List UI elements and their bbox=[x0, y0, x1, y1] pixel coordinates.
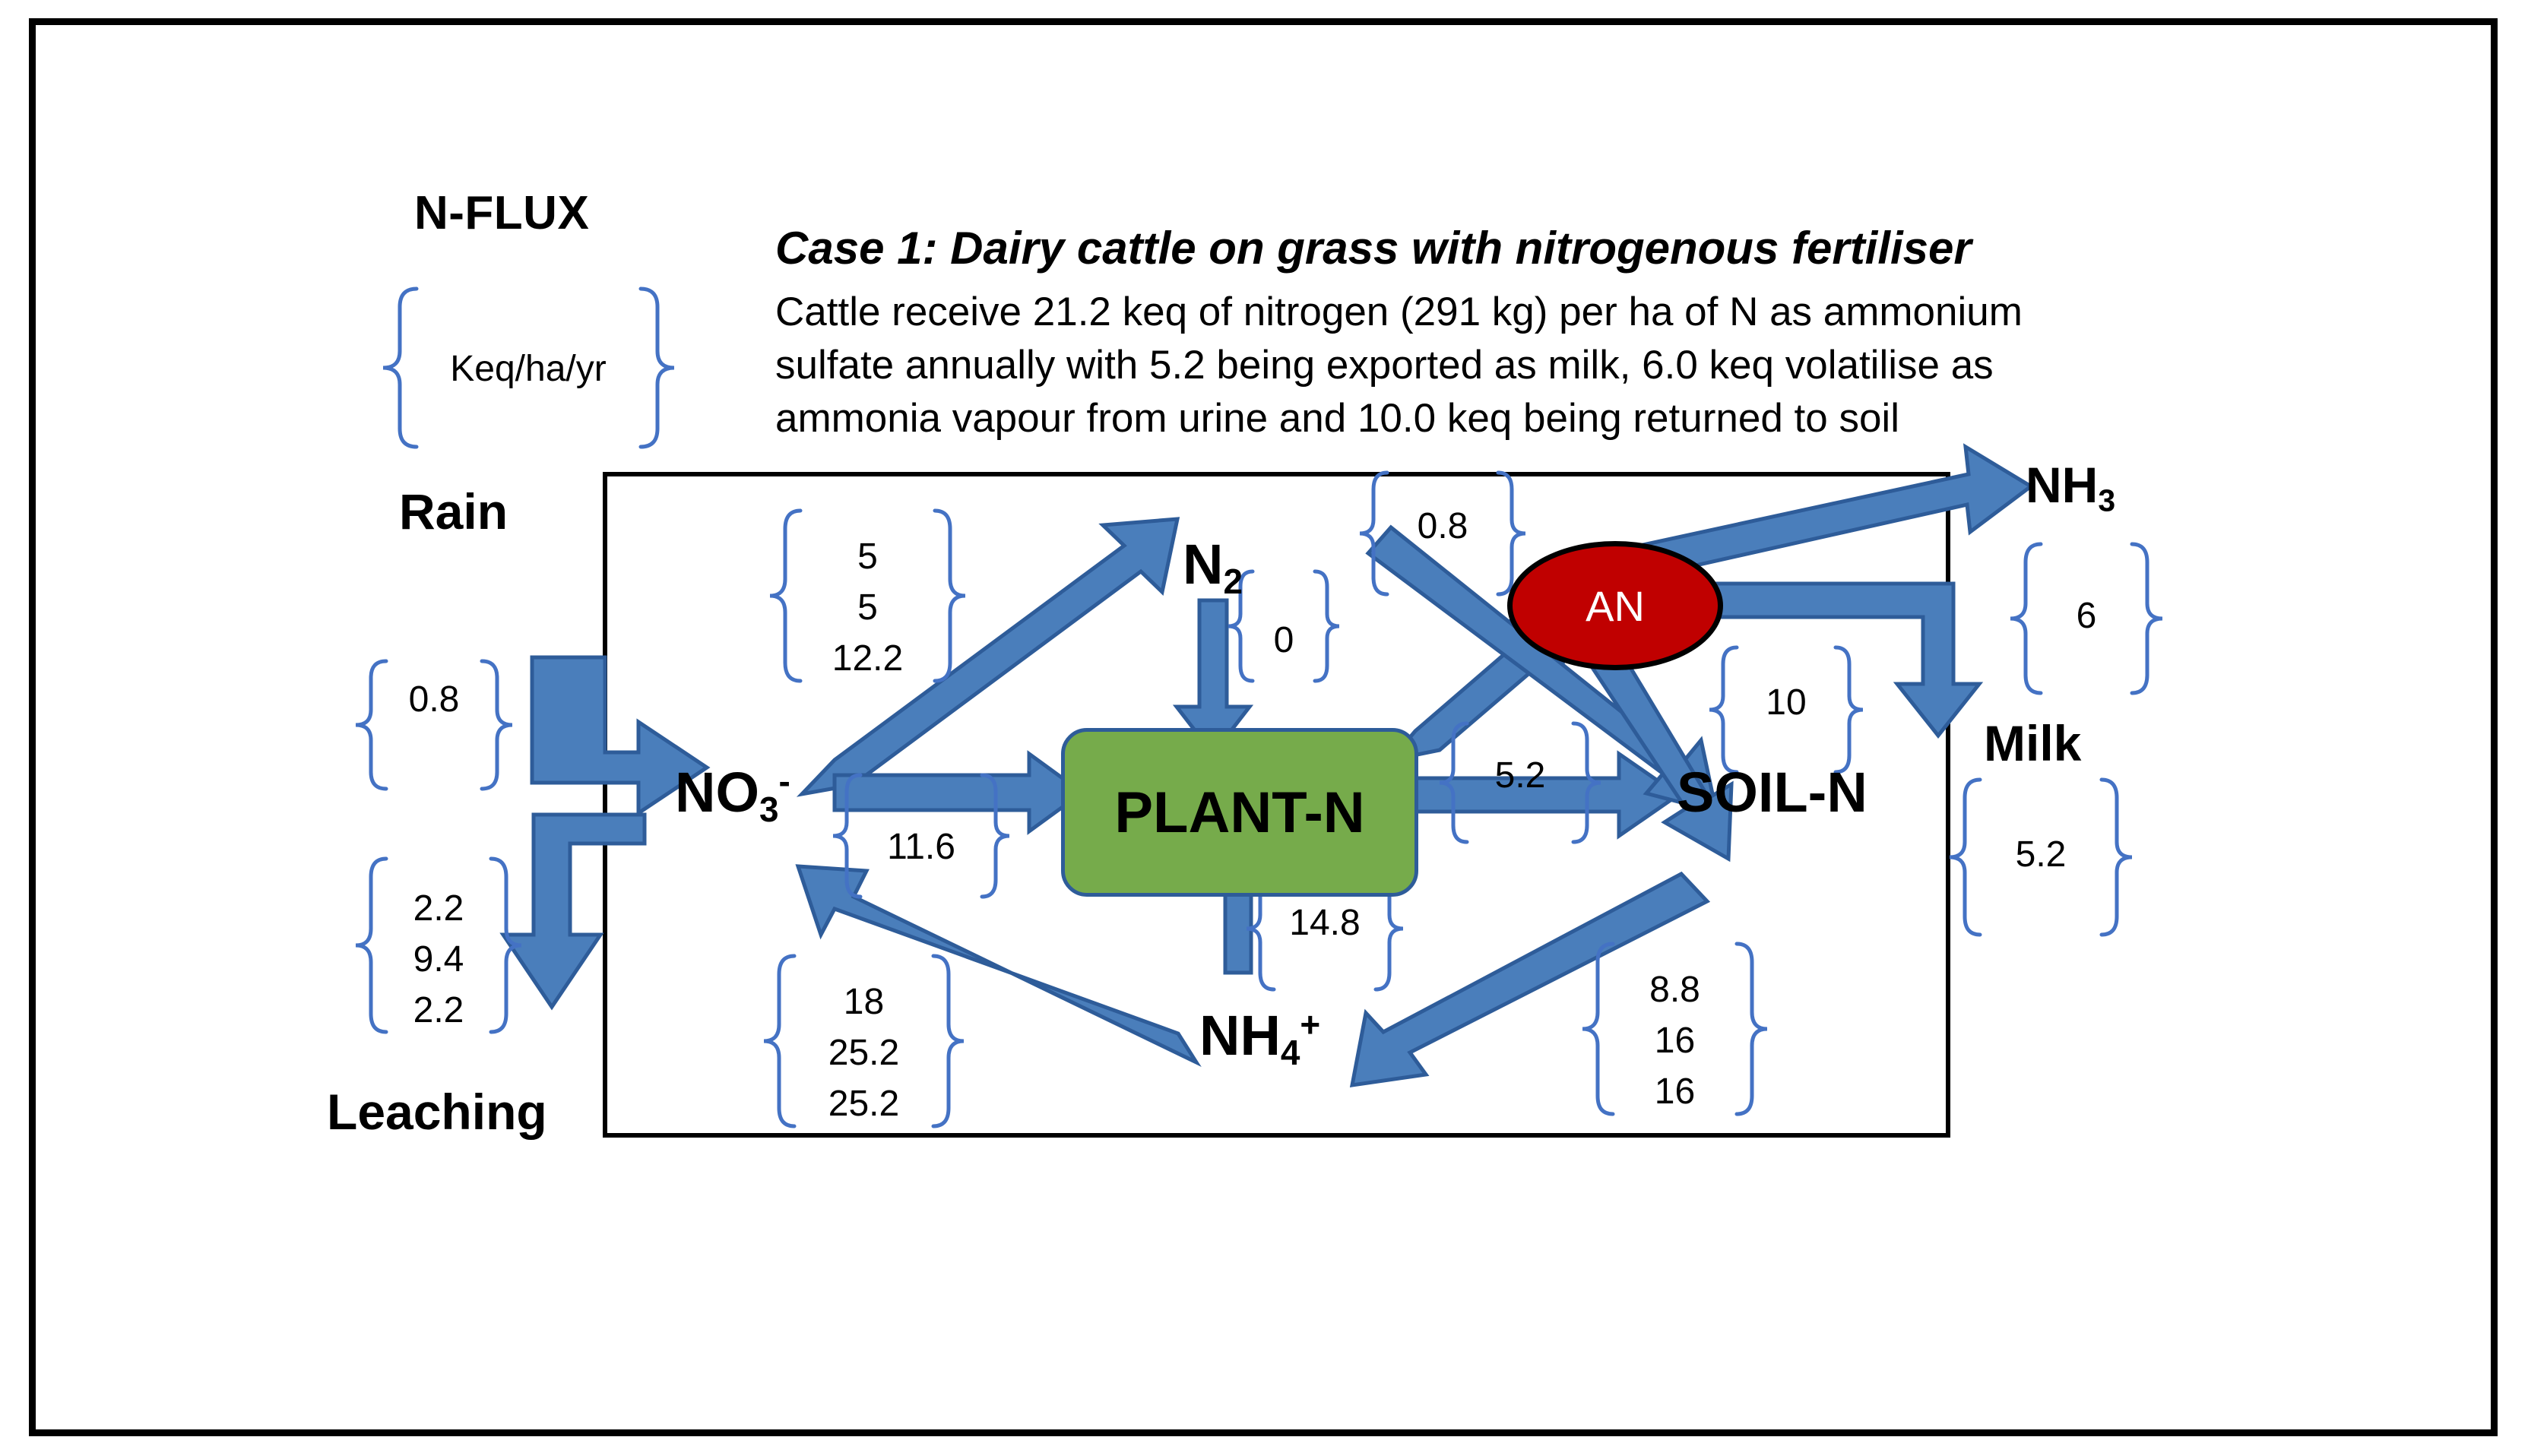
nitrate-superscript: - bbox=[779, 761, 790, 801]
value-denitrification-1: 5 bbox=[800, 533, 935, 580]
dinitrogen-text: N bbox=[1183, 533, 1223, 596]
diagram-canvas: N-FLUX Keq/ha/yr Case 1: Dairy cattle on… bbox=[0, 0, 2528, 1456]
label-milk: Milk bbox=[1984, 714, 2081, 772]
nitrate-text: NO bbox=[675, 761, 759, 824]
ammonium-subscript: 4 bbox=[1281, 1033, 1300, 1072]
node-nitrate: NO3- bbox=[675, 760, 790, 830]
value-mineralisation-2: 16 bbox=[1613, 1018, 1737, 1064]
value-plant-animal: 0.8 bbox=[1387, 503, 1498, 549]
node-ammonium: NH4+ bbox=[1199, 1003, 1320, 1073]
value-ammonia: 6 bbox=[2041, 593, 2132, 639]
ammonia-text: NH bbox=[2026, 457, 2098, 513]
value-nitrate-uptake: 11.6 bbox=[860, 824, 982, 870]
value-plant-soil: 5.2 bbox=[1467, 752, 1573, 799]
value-milk: 5.2 bbox=[1980, 831, 2102, 878]
value-mineralisation-1: 8.8 bbox=[1613, 967, 1737, 1013]
node-dinitrogen: N2 bbox=[1183, 532, 1243, 602]
label-ammonia: NH3 bbox=[2026, 456, 2115, 518]
dinitrogen-subscript: 2 bbox=[1223, 562, 1243, 601]
value-denitrification-3: 12.2 bbox=[800, 635, 935, 682]
value-nitrification-1: 18 bbox=[794, 979, 933, 1025]
value-animal-soil: 10 bbox=[1737, 679, 1836, 726]
unit-label: Keq/ha/yr bbox=[433, 346, 623, 392]
case-body-line-2: sulfate annually with 5.2 being exported… bbox=[775, 342, 1994, 388]
value-nitrification-3: 25.2 bbox=[794, 1081, 933, 1127]
value-mineralisation-3: 16 bbox=[1613, 1068, 1737, 1115]
value-leaching-3: 2.2 bbox=[386, 987, 491, 1033]
case-title: Case 1: Dairy cattle on grass with nitro… bbox=[775, 222, 1972, 274]
node-soil-n: SOIL-N bbox=[1677, 760, 1867, 825]
node-plant-n: PLANT-N bbox=[1061, 728, 1418, 897]
value-ammonium-uptake: 14.8 bbox=[1274, 900, 1376, 946]
ammonium-superscript: + bbox=[1300, 1005, 1320, 1044]
page-title: N-FLUX bbox=[414, 186, 589, 240]
node-animal: AN bbox=[1507, 541, 1723, 670]
nitrate-subscript: 3 bbox=[759, 790, 779, 829]
case-body-line-1: Cattle receive 21.2 keq of nitrogen (291… bbox=[775, 289, 2023, 335]
label-rain: Rain bbox=[399, 483, 508, 540]
value-leaching-2: 9.4 bbox=[386, 936, 491, 983]
value-rain: 0.8 bbox=[386, 676, 482, 723]
value-nitrification-2: 25.2 bbox=[794, 1030, 933, 1076]
label-leaching: Leaching bbox=[327, 1083, 547, 1141]
case-body-line-3: ammonia vapour from urine and 10.0 keq b… bbox=[775, 395, 1899, 442]
value-denitrification-2: 5 bbox=[800, 584, 935, 631]
ammonium-text: NH bbox=[1199, 1004, 1281, 1067]
ammonia-subscript: 3 bbox=[2098, 483, 2115, 518]
value-fixation: 0 bbox=[1253, 617, 1315, 663]
value-leaching-1: 2.2 bbox=[386, 885, 491, 932]
animal-label: AN bbox=[1586, 581, 1645, 631]
plant-n-label: PLANT-N bbox=[1114, 780, 1364, 846]
